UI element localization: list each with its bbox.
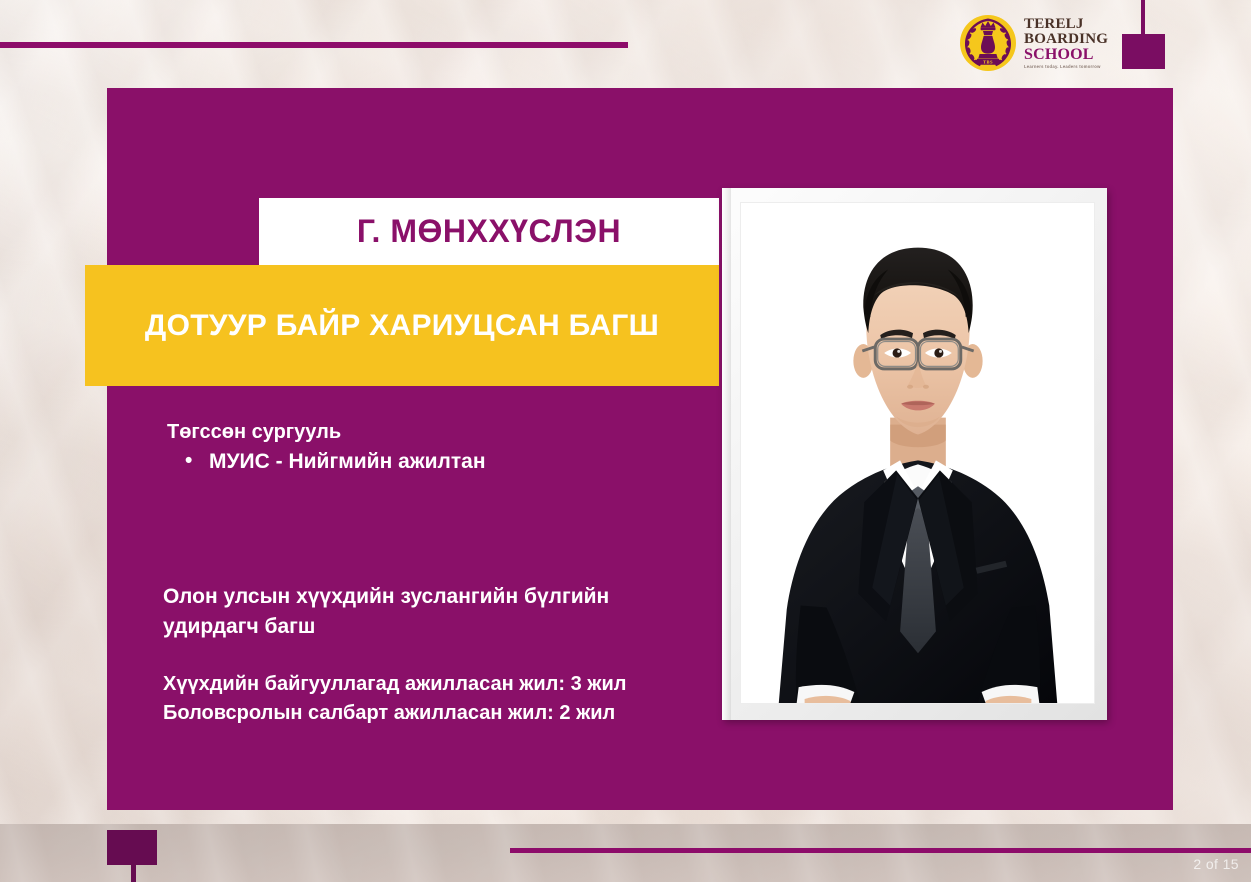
bottom-left-square-stem [131, 864, 136, 882]
bottom-purple-rule [510, 848, 1251, 853]
bottom-left-purple-square [107, 830, 157, 865]
role-banner: ДОТУУР БАЙР ХАРИУЦСАН БАГШ [85, 265, 719, 386]
years-line-education: Боловсролын салбарт ажилласан жил: 2 жил [163, 699, 723, 728]
svg-text:TBS: TBS [983, 59, 993, 64]
logo-badge-icon: TBS [959, 14, 1017, 72]
logo-wordmark: TERELJ BOARDING SCHOOL Learners today. L… [1024, 17, 1108, 69]
top-right-purple-square [1122, 34, 1165, 69]
list-item: МУИС - Нийгмийн ажилтан [209, 448, 486, 476]
logo-line-school: SCHOOL [1024, 47, 1108, 63]
name-plate: Г. МӨНХХҮСЛЭН [259, 198, 719, 265]
experience-note: Олон улсын хүүхдийн зуслангийн бүлгийн у… [163, 582, 683, 642]
bottom-band-texture [0, 824, 1251, 882]
logo-line-boarding: BOARDING [1024, 32, 1108, 47]
bottom-grey-band [0, 824, 1251, 882]
education-heading: Төгссөн сургууль [167, 421, 341, 444]
top-purple-rule [0, 42, 628, 48]
person-role: ДОТУУР БАЙР ХАРИУЦСАН БАГШ [145, 306, 659, 346]
person-name: Г. МӨНХХҮСЛЭН [357, 213, 621, 250]
logo-line-terelj: TERELJ [1024, 17, 1108, 32]
years-line-childcare: Хүүхдийн байгууллагад ажилласан жил: 3 ж… [163, 670, 723, 699]
top-right-square-stem [1141, 0, 1145, 36]
education-list: МУИС - Нийгмийн ажилтан [167, 448, 486, 476]
photo-inner [740, 202, 1095, 704]
portrait-photo [741, 203, 1094, 703]
photo-frame [722, 188, 1107, 720]
school-logo: TBS TERELJ BOARDING SCHOOL Learners toda… [959, 12, 1114, 74]
slide-canvas: TBS TERELJ BOARDING SCHOOL Learners toda… [0, 0, 1251, 882]
page-counter: 2 of 15 [1193, 856, 1239, 872]
logo-tagline: Learners today. Leaders tomorrow [1024, 65, 1108, 69]
years-block: Хүүхдийн байгууллагад ажилласан жил: 3 ж… [163, 670, 723, 728]
